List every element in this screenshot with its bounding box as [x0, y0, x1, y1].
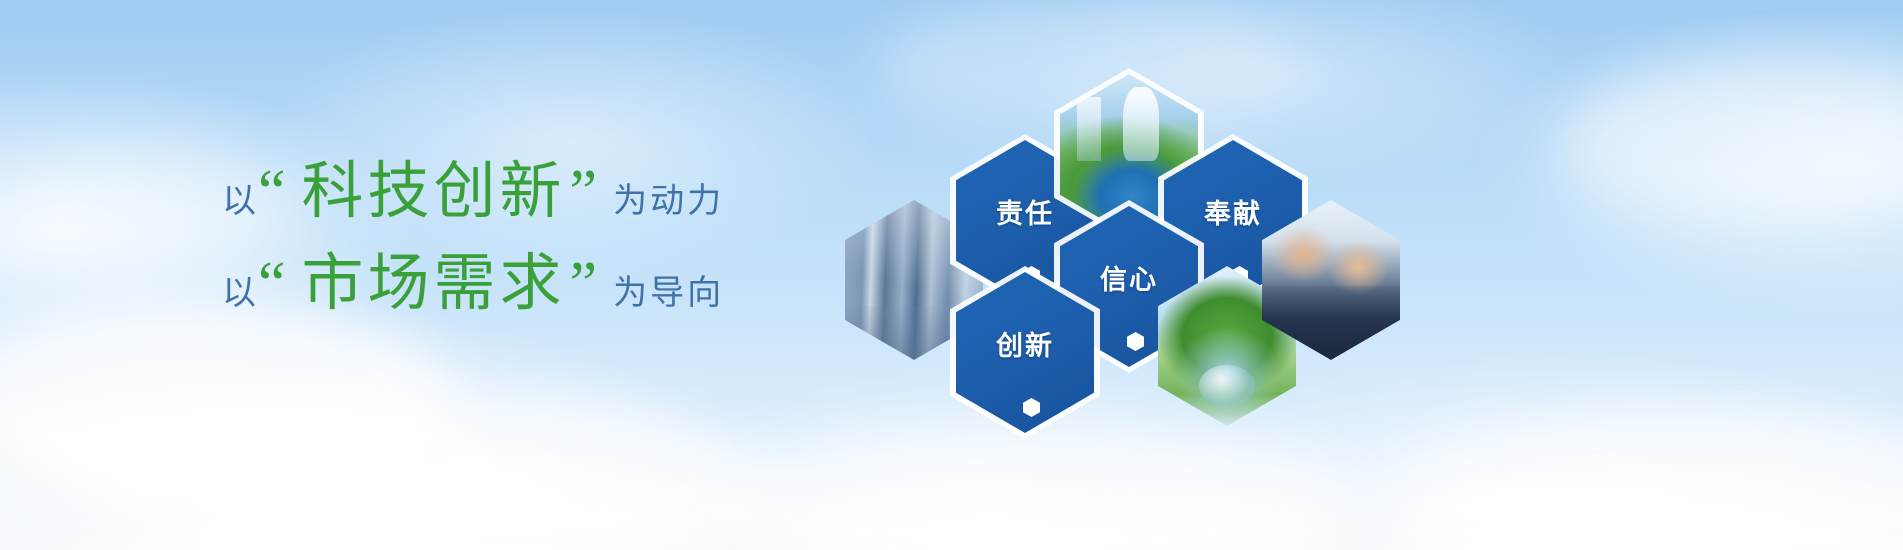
- slogan-line-2-open-quote: “: [258, 249, 286, 320]
- slogan-line-2-highlight: 市场需求: [302, 232, 566, 322]
- hexagon-label-dedication: 奉献: [1204, 192, 1262, 231]
- slogan-line-2-lead: 以: [222, 265, 258, 314]
- cloud-decoration: [0, 300, 460, 510]
- slogan-line-1-close-quote: ”: [570, 157, 598, 228]
- cloud-decoration: [250, 400, 770, 550]
- slogan-line-2-tail: 为导向: [613, 265, 724, 314]
- slogan-line-2-close-quote: ”: [570, 249, 598, 320]
- slogan-line-1-tail: 为动力: [613, 173, 724, 222]
- slogan-line-1-lead: 以: [222, 173, 258, 222]
- slogan-line-1-highlight: 科技创新: [302, 140, 566, 230]
- corporate-banner: 以 “ 科技创新 ” 为动力 以 “ 市场需求 ” 为导向 责任 奉献: [0, 0, 1903, 550]
- hexagon-label-confidence: 信心: [1100, 258, 1158, 297]
- slogan-block: 以 “ 科技创新 ” 为动力 以 “ 市场需求 ” 为导向: [222, 140, 782, 324]
- hexagon-label-innovation: 创新: [996, 324, 1054, 363]
- hexagon-cluster: 责任 奉献 信心 创新: [1010, 50, 1710, 470]
- slogan-line-1: 以 “ 科技创新 ” 为动力: [222, 140, 782, 232]
- slogan-line-2: 以 “ 市场需求 ” 为导向: [222, 232, 782, 324]
- hexagon-label-responsibility: 责任: [996, 192, 1054, 231]
- slogan-line-1-open-quote: “: [258, 157, 286, 228]
